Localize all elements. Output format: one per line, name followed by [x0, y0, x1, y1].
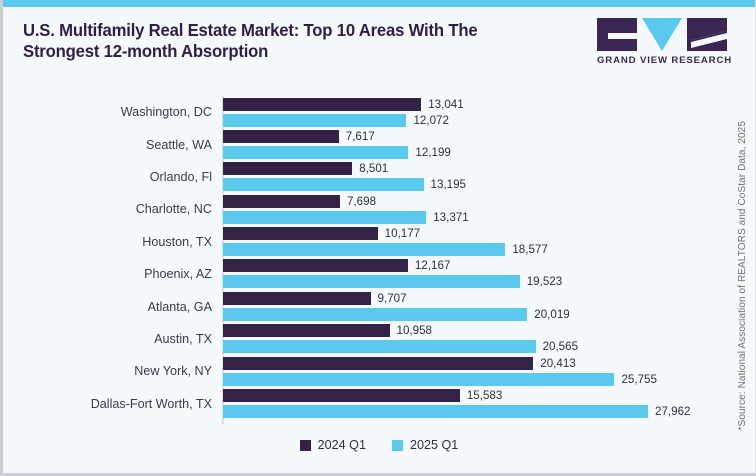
- bar-row: 18,577: [223, 243, 548, 256]
- bar-value-label: 13,371: [433, 211, 468, 224]
- legend-item[interactable]: 2025 Q1: [392, 438, 458, 452]
- chart-group: New York, NY20,41325,755: [3, 355, 717, 387]
- bar-2024-q1: [223, 357, 533, 370]
- legend-swatch-icon: [392, 440, 403, 451]
- chart-group: Austin, TX10,95820,565: [3, 323, 717, 355]
- bar-2024-q1: [223, 195, 340, 208]
- bar-2025-q1: [223, 275, 520, 288]
- bar-row: 10,177: [223, 227, 420, 240]
- bar-2024-q1: [223, 292, 371, 305]
- bar-2025-q1: [223, 373, 614, 386]
- bar-value-label: 13,195: [431, 178, 466, 191]
- chart-group: Charlotte, NC7,69813,371: [3, 193, 717, 225]
- bar-row: 20,413: [223, 357, 576, 370]
- bar-value-label: 8,501: [359, 162, 388, 175]
- bar-row: 19,523: [223, 275, 562, 288]
- chart-group: Seattle, WA7,61712,199: [3, 128, 717, 160]
- logo-g-bar: [608, 31, 637, 33]
- bar-value-label: 7,617: [346, 130, 375, 143]
- bar-value-label: 27,962: [655, 405, 690, 418]
- bar-2025-q1: [223, 146, 408, 159]
- category-label: Washington, DC: [3, 96, 212, 128]
- bar-row: 12,199: [223, 146, 451, 159]
- bar-2025-q1: [223, 340, 536, 353]
- bar-value-label: 12,199: [415, 146, 450, 159]
- category-label: Charlotte, NC: [3, 193, 212, 225]
- bar-row: 7,617: [223, 130, 375, 143]
- bar-row: 13,371: [223, 211, 469, 224]
- bar-2025-q1: [223, 178, 424, 191]
- bar-row: 27,962: [223, 405, 690, 418]
- category-label: Seattle, WA: [3, 128, 212, 160]
- chart-group: Washington, DC13,04112,072: [3, 96, 717, 128]
- bar-2024-q1: [223, 130, 339, 143]
- bar-2025-q1: [223, 243, 505, 256]
- source-note-text: *Source: National Association of REALTOR…: [737, 121, 748, 430]
- bar-2024-q1: [223, 259, 408, 272]
- bar-value-label: 7,698: [347, 195, 376, 208]
- category-label: Orlando, Fl: [3, 161, 212, 193]
- bar-value-label: 12,167: [415, 259, 450, 272]
- chart-legend: 2024 Q12025 Q1: [3, 434, 755, 456]
- page-title: U.S. Multifamily Real Estate Market: Top…: [23, 20, 541, 62]
- bar-row: 12,072: [223, 114, 449, 127]
- chart-infographic: U.S. Multifamily Real Estate Market: Top…: [0, 0, 756, 476]
- legend-label: 2024 Q1: [318, 438, 366, 452]
- top-accent-bar: [3, 0, 756, 7]
- category-label: Austin, TX: [3, 323, 212, 355]
- bar-row: 20,019: [223, 308, 570, 321]
- bar-row: 20,565: [223, 340, 578, 353]
- category-label: New York, NY: [3, 355, 212, 387]
- bar-2025-q1: [223, 114, 406, 127]
- legend-label: 2025 Q1: [410, 438, 458, 452]
- category-label: Atlanta, GA: [3, 290, 212, 322]
- bar-value-label: 19,523: [527, 275, 562, 288]
- category-label: Dallas-Fort Worth, TX: [3, 388, 212, 420]
- logo-v-icon: [642, 18, 682, 51]
- bar-row: 10,958: [223, 324, 432, 337]
- bar-2024-q1: [223, 162, 352, 175]
- bar-chart-plot-area: Washington, DC13,04112,072Seattle, WA7,6…: [3, 92, 717, 428]
- bar-2024-q1: [223, 324, 390, 337]
- bar-value-label: 20,019: [534, 308, 569, 321]
- logo-r-icon: [687, 18, 727, 51]
- logo-wordmark: GRAND VIEW RESEARCH: [597, 55, 728, 66]
- bar-row: 15,583: [223, 389, 502, 402]
- bar-value-label: 15,583: [467, 389, 502, 402]
- chart-group: Houston, TX10,17718,577: [3, 226, 717, 258]
- bar-value-label: 20,565: [543, 340, 578, 353]
- chart-group: Dallas-Fort Worth, TX15,58327,962: [3, 388, 717, 420]
- logo-g-icon: [597, 18, 637, 51]
- bar-row: 13,195: [223, 178, 466, 191]
- grand-view-research-logo: GRAND VIEW RESEARCH: [597, 18, 727, 68]
- bar-2024-q1: [223, 227, 378, 240]
- bar-value-label: 9,707: [378, 292, 407, 305]
- bar-2025-q1: [223, 211, 426, 224]
- bar-2025-q1: [223, 405, 648, 418]
- bar-value-label: 12,072: [413, 114, 448, 127]
- bar-2025-q1: [223, 308, 527, 321]
- bar-value-label: 18,577: [512, 243, 547, 256]
- logo-marks: [597, 18, 727, 51]
- chart-rows: Washington, DC13,04112,072Seattle, WA7,6…: [3, 96, 717, 424]
- bar-row: 13,041: [223, 98, 464, 111]
- bar-value-label: 25,755: [621, 373, 656, 386]
- legend-swatch-icon: [300, 440, 311, 451]
- bar-2024-q1: [223, 98, 421, 111]
- legend-item[interactable]: 2024 Q1: [300, 438, 366, 452]
- bar-value-label: 13,041: [428, 98, 463, 111]
- bar-row: 25,755: [223, 373, 657, 386]
- category-label: Phoenix, AZ: [3, 258, 212, 290]
- bar-value-label: 10,958: [397, 324, 432, 337]
- bar-row: 7,698: [223, 195, 376, 208]
- bar-value-label: 10,177: [385, 227, 420, 240]
- header: U.S. Multifamily Real Estate Market: Top…: [3, 7, 756, 85]
- bar-value-label: 20,413: [540, 357, 575, 370]
- chart-group: Atlanta, GA9,70720,019: [3, 290, 717, 322]
- chart-group: Orlando, Fl8,50113,195: [3, 161, 717, 193]
- bar-row: 8,501: [223, 162, 388, 175]
- chart-group: Phoenix, AZ12,16719,523: [3, 258, 717, 290]
- bar-row: 12,167: [223, 259, 450, 272]
- bar-2024-q1: [223, 389, 460, 402]
- bar-row: 9,707: [223, 292, 407, 305]
- source-note: *Source: National Association of REALTOR…: [733, 60, 751, 430]
- category-label: Houston, TX: [3, 226, 212, 258]
